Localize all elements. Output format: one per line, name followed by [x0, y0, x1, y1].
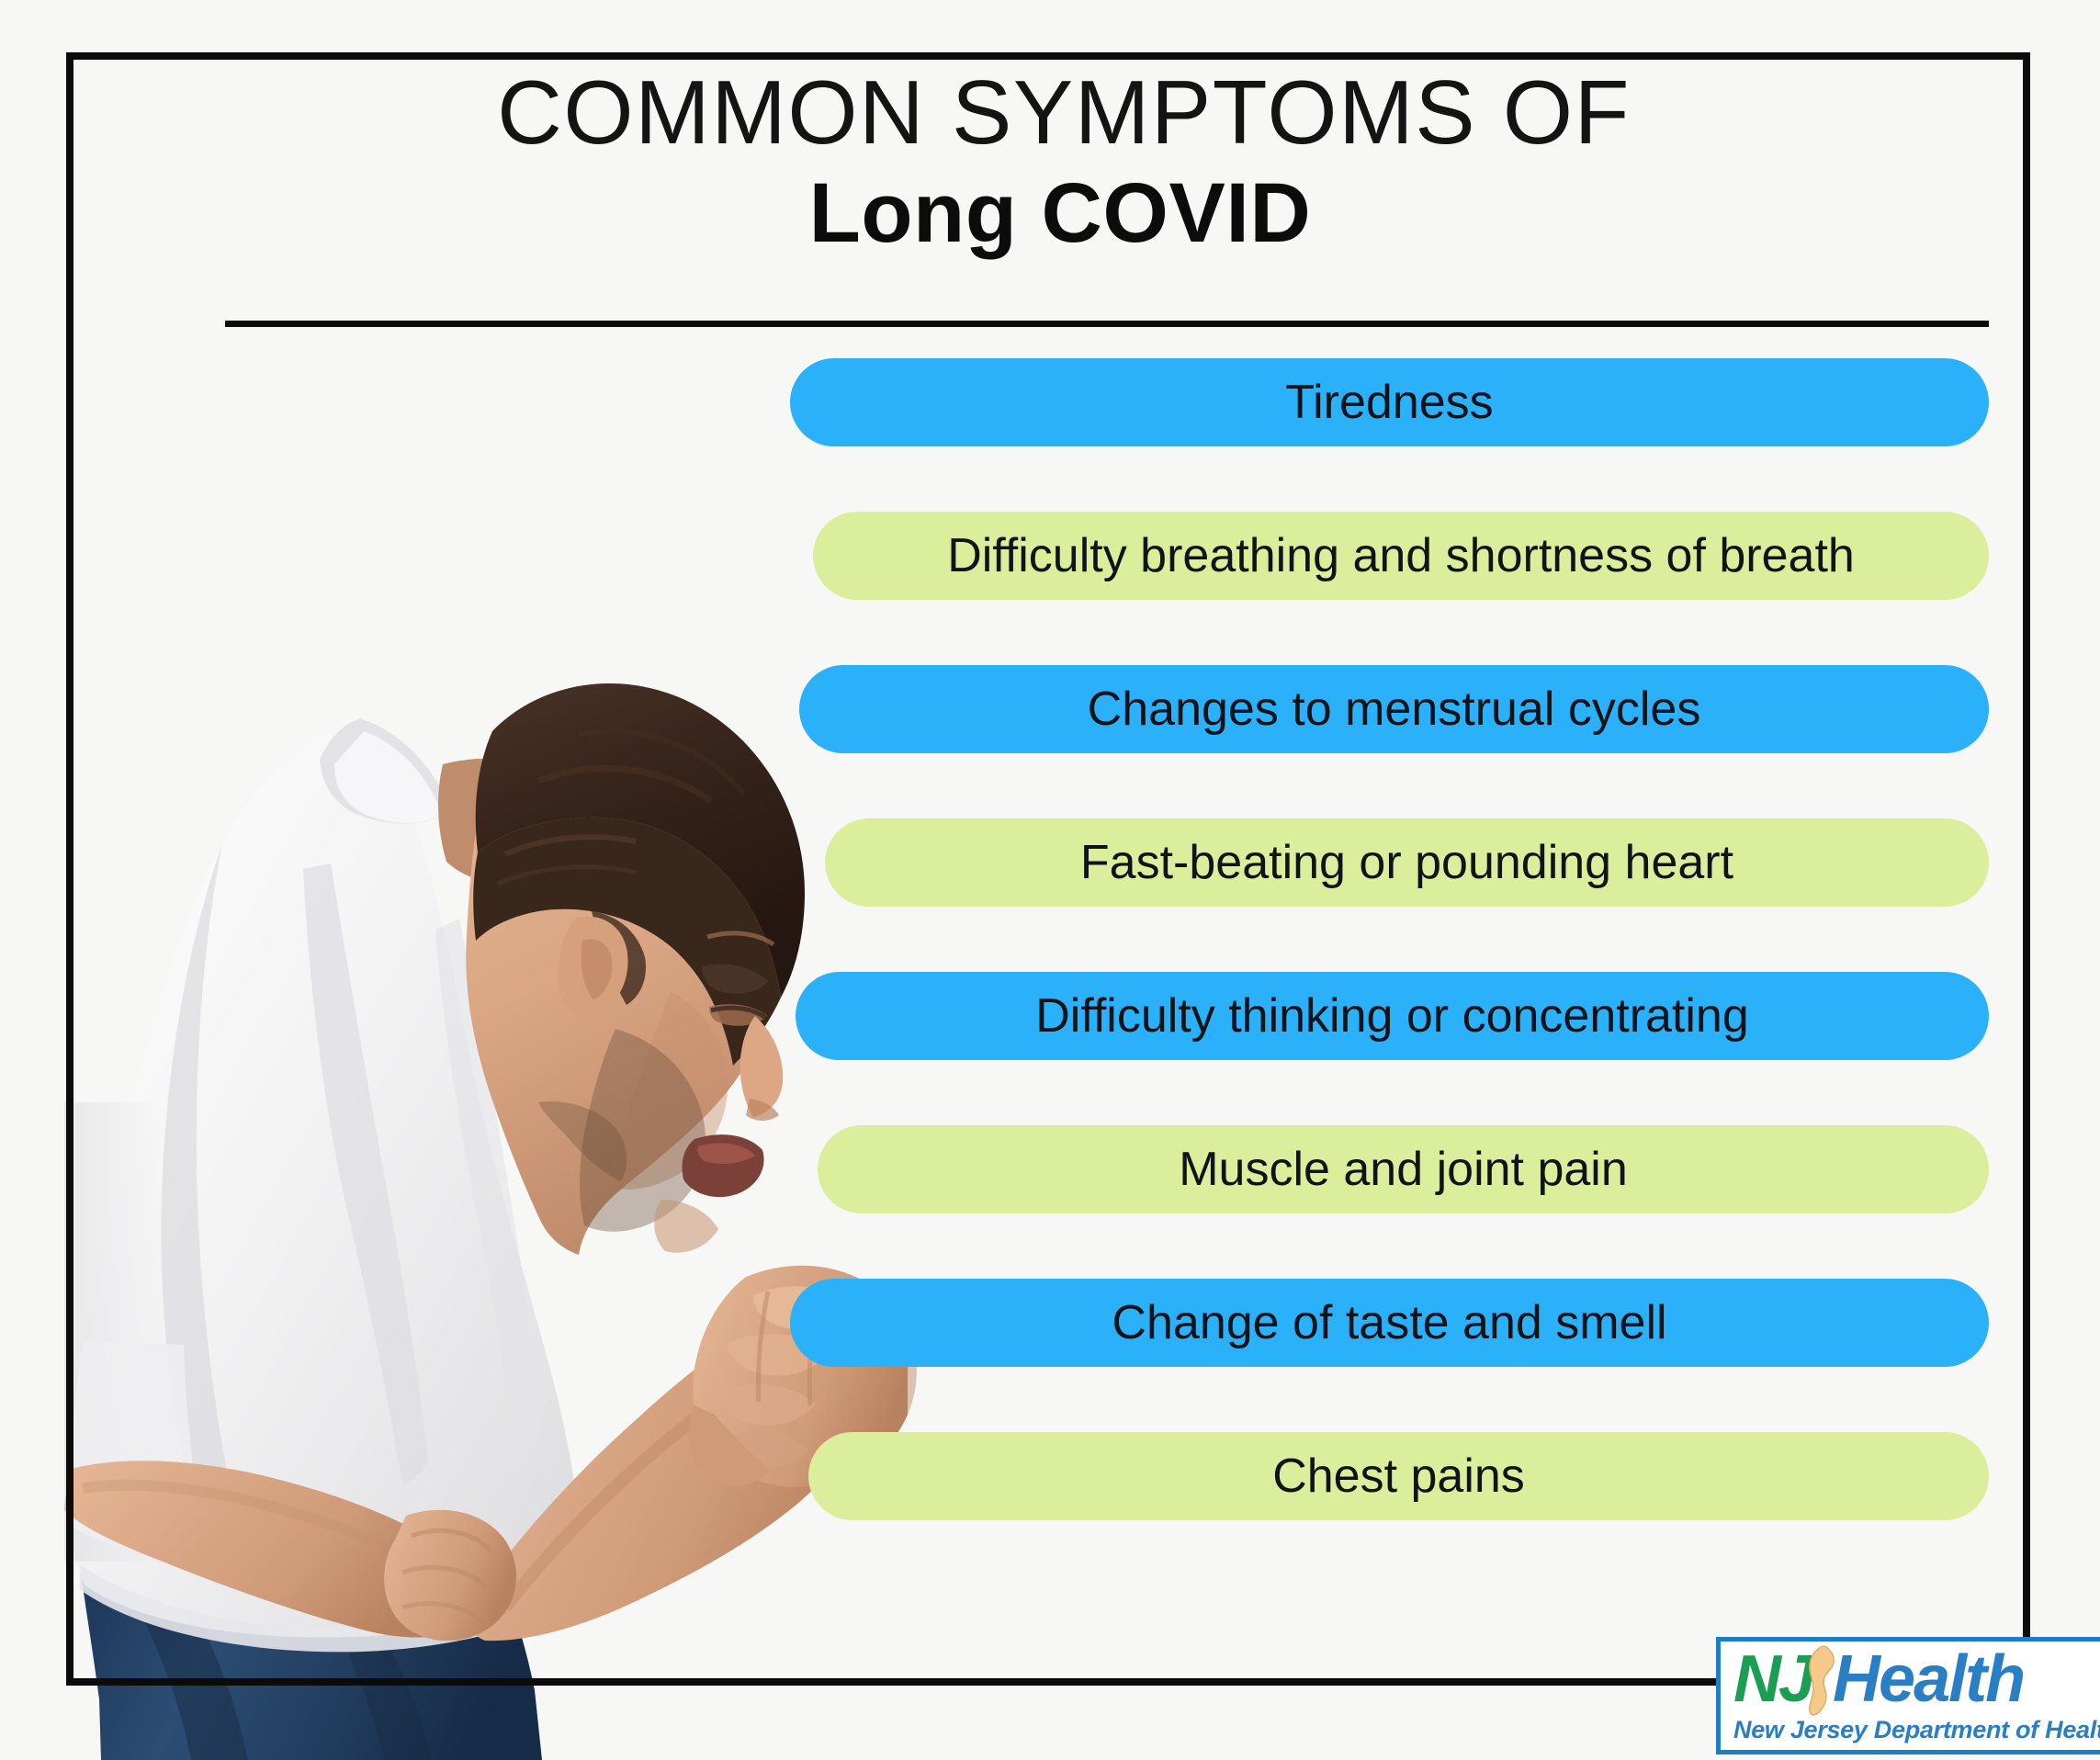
symptom-label: Difficulty breathing and shortness of br…: [947, 532, 1855, 580]
symptom-pill: Difficulty thinking or concentrating: [796, 972, 1989, 1060]
symptom-pill: Change of taste and smell: [790, 1279, 1989, 1367]
title-line-1: COMMON SYMPTOMS OF: [28, 64, 2100, 162]
symptom-pill: Fast-beating or pounding heart: [825, 818, 1989, 907]
symptom-label: Muscle and joint pain: [1179, 1145, 1628, 1193]
nj-health-logo: NJ Health New Jersey Department of Healt…: [1716, 1637, 2100, 1754]
symptom-label: Difficulty thinking or concentrating: [1035, 992, 1749, 1040]
logo-subtitle: New Jersey Department of Health: [1733, 1716, 2100, 1744]
symptom-pill: Muscle and joint pain: [818, 1125, 1989, 1213]
symptom-label: Changes to menstrual cycles: [1088, 685, 1701, 733]
symptom-list: Tiredness Difficulty breathing and short…: [0, 358, 2100, 1552]
title-divider: [225, 321, 1989, 327]
symptom-label: Fast-beating or pounding heart: [1080, 839, 1733, 886]
logo-health-text: Health: [1833, 1646, 2024, 1712]
symptom-label: Change of taste and smell: [1112, 1299, 1666, 1347]
symptom-pill: Difficulty breathing and shortness of br…: [813, 512, 1989, 600]
new-jersey-state-outline-icon: [1803, 1645, 1840, 1717]
symptom-pill: Tiredness: [790, 358, 1989, 446]
page-title: COMMON SYMPTOMS OF Long COVID: [0, 64, 2100, 265]
logo-nj-text: NJ: [1733, 1646, 1812, 1712]
symptom-label: Tiredness: [1285, 378, 1493, 426]
logo-wordmark: NJ Health: [1721, 1642, 2100, 1717]
title-line-2: Long COVID: [20, 162, 2100, 265]
symptom-label: Chest pains: [1272, 1452, 1525, 1500]
infographic-poster: COMMON SYMPTOMS OF Long COVID Tiredness …: [0, 0, 2100, 1760]
symptom-pill: Changes to menstrual cycles: [799, 665, 1989, 753]
symptom-pill: Chest pains: [808, 1432, 1989, 1520]
